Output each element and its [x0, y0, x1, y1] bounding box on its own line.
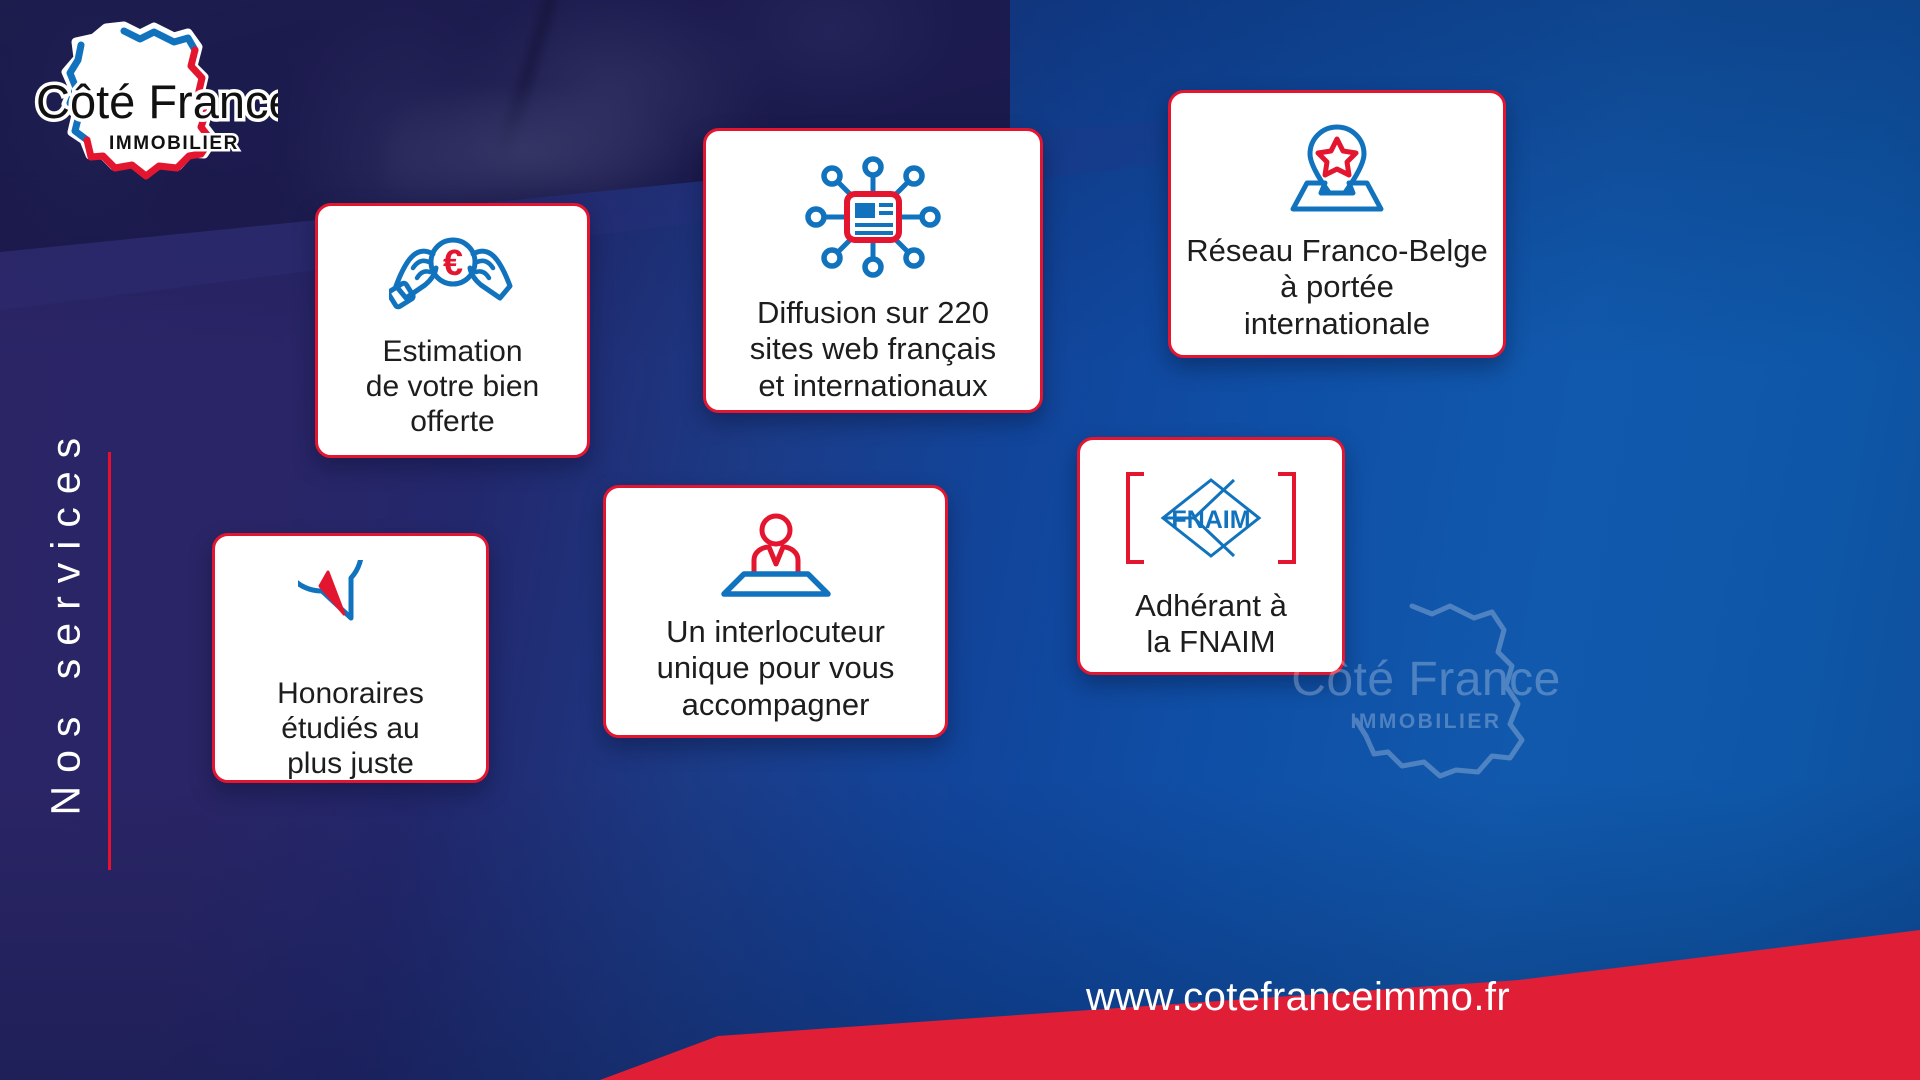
card-line: Estimation — [328, 334, 577, 369]
service-card-diffusion-text: Diffusion sur 220 sites web français et … — [706, 295, 1040, 404]
service-card-interlocuteur[interactable]: Un interlocuteur unique pour vous accomp… — [603, 485, 948, 738]
card-line: de votre bien — [328, 369, 577, 404]
service-card-honoraires[interactable]: Honoraires étudiés au plus juste — [212, 533, 489, 783]
card-line: Un interlocuteur — [616, 614, 935, 650]
service-card-reseau[interactable]: Réseau Franco-Belge à portée internation… — [1168, 90, 1506, 358]
agent-desk-icon — [716, 510, 836, 600]
logo-tagline-text: IMMOBILIER — [109, 133, 239, 154]
section-title-vertical: Nos services — [30, 452, 100, 824]
card-line: et internationaux — [716, 368, 1030, 404]
logo-name-text: Côté France — [36, 75, 278, 128]
france-outline-logo-icon: Côté France IMMOBILIER — [28, 14, 278, 204]
service-card-diffusion[interactable]: Diffusion sur 220 sites web français et … — [703, 128, 1043, 413]
section-accent-line — [108, 452, 111, 870]
service-card-interlocuteur-text: Un interlocuteur unique pour vous accomp… — [606, 614, 945, 723]
hands-euro-icon: € — [389, 228, 517, 320]
service-card-fnaim-text: Adhérant à la FNAIM — [1080, 588, 1342, 661]
network-broadcast-icon — [802, 153, 944, 281]
infographic-canvas: Côté France IMMOBILIER Nos services € Es… — [0, 0, 1920, 1080]
map-pin-star-icon — [1277, 117, 1397, 217]
card-line: sites web français — [716, 331, 1030, 367]
service-card-honoraires-text: Honoraires étudiés au plus juste — [215, 676, 486, 781]
card-line: Honoraires — [225, 676, 476, 711]
card-line: offerte — [328, 404, 577, 439]
fnaim-logo-icon: FNAIM — [1116, 466, 1306, 570]
card-line: Adhérant à — [1090, 588, 1332, 624]
service-card-fnaim[interactable]: FNAIM Adhérant à la FNAIM — [1077, 437, 1345, 675]
card-line: internationale — [1181, 306, 1493, 342]
website-url[interactable]: www.cotefranceimmo.fr — [1086, 975, 1846, 1020]
card-line: Diffusion sur 220 — [716, 295, 1030, 331]
service-card-estimation[interactable]: € Estimation de votre bien offerte — [315, 203, 590, 458]
section-title-text: Nos services — [43, 436, 90, 816]
brand-logo: Côté France IMMOBILIER — [28, 14, 278, 204]
card-line: accompagner — [616, 687, 935, 723]
service-card-reseau-text: Réseau Franco-Belge à portée internation… — [1171, 233, 1503, 342]
card-line: plus juste — [225, 746, 476, 781]
card-line: à portée — [1181, 269, 1493, 305]
card-line: unique pour vous — [616, 650, 935, 686]
pie-chart-icon — [298, 560, 404, 660]
card-line: la FNAIM — [1090, 624, 1332, 660]
svg-text:€: € — [442, 242, 462, 283]
card-line: étudiés au — [225, 711, 476, 746]
service-card-estimation-text: Estimation de votre bien offerte — [318, 334, 587, 439]
fnaim-wordmark: FNAIM — [1171, 506, 1250, 534]
card-line: Réseau Franco-Belge — [1181, 233, 1493, 269]
